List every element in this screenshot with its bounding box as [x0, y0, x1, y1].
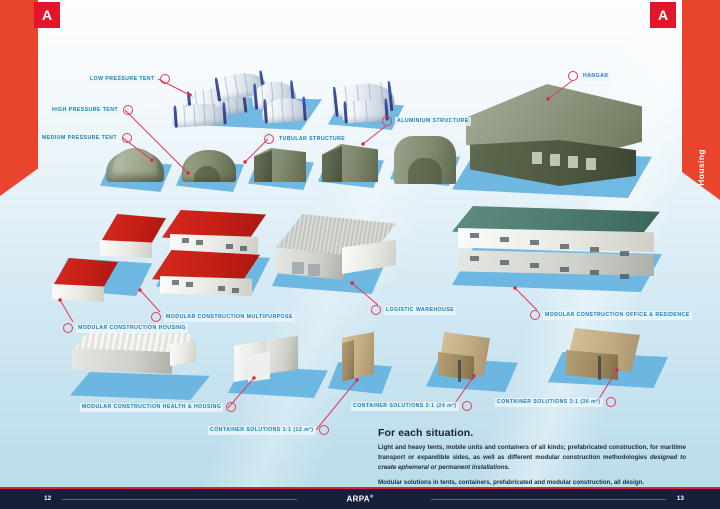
- callout-label: CONTAINER SOLUTIONS 2:1 (24 m²): [351, 402, 459, 411]
- callout-container-3-1[interactable]: CONTAINER SOLUTIONS 3:1 (36 m²): [495, 397, 619, 407]
- callout-low-pressure-tent[interactable]: LOW PRESSURE TENT: [88, 74, 173, 84]
- callout-label: CONTAINER SOLUTIONS 1:1 (12 m²): [208, 426, 316, 435]
- section-tab-housing[interactable]: Housing: [682, 0, 720, 200]
- callout-container-2-1[interactable]: CONTAINER SOLUTIONS 2:1 (24 m²): [351, 401, 475, 411]
- callout-medium-pressure-tent[interactable]: MEDIUM PRESSURE TENT: [40, 133, 135, 143]
- callout-marker-icon: [151, 312, 161, 322]
- callout-marker-icon: [319, 425, 329, 435]
- footer-rule-left: [62, 499, 297, 500]
- body-heading: For each situation.: [378, 427, 686, 439]
- hangar-window: [586, 158, 596, 170]
- callout-modular-health-housing[interactable]: MODULAR CONSTRUCTION HEALTH & HOUSING: [80, 402, 239, 412]
- callout-marker-icon: [226, 402, 236, 412]
- callout-label: HANGAR: [581, 72, 610, 81]
- callout-marker-icon: [606, 397, 616, 407]
- callout-label: ALUMINIUM STRUCTURE: [395, 117, 471, 126]
- callout-marker-icon: [63, 323, 73, 333]
- callout-tubular-structure[interactable]: TUBULAR STRUCTURE: [261, 134, 347, 144]
- hangar-window: [568, 156, 578, 168]
- callout-marker-icon: [123, 105, 133, 115]
- callout-label: TUBULAR STRUCTURE: [277, 135, 347, 144]
- body-paragraph-1: Light and heavy tents, mobile units and …: [378, 443, 686, 473]
- callout-container-1-1[interactable]: CONTAINER SOLUTIONS 1:1 (12 m²): [208, 425, 332, 435]
- callout-label: MODULAR CONSTRUCTION MULTIPURPOSE: [164, 313, 295, 322]
- callout-label: HIGH PRESSURE TENT: [50, 106, 120, 115]
- callout-marker-icon: [160, 74, 170, 84]
- brand-name: ARPA®: [347, 494, 374, 504]
- callout-marker-icon: [371, 305, 381, 315]
- callout-label: LOGISTIC WAREHOUSE: [384, 306, 456, 315]
- ground-pad: [70, 372, 210, 400]
- section-tab-label: Housing: [696, 149, 706, 186]
- callout-marker-icon: [122, 133, 132, 143]
- callout-marker-icon: [530, 310, 540, 320]
- callout-logistic-warehouse[interactable]: LOGISTIC WAREHOUSE: [368, 305, 456, 315]
- callout-high-pressure-tent[interactable]: HIGH PRESSURE TENT: [50, 105, 136, 115]
- page-footer: 12 ARPA® 13: [0, 487, 720, 509]
- callout-aluminium-structure[interactable]: ALUMINIUM STRUCTURE: [379, 116, 471, 126]
- callout-label: MEDIUM PRESSURE TENT: [40, 134, 119, 143]
- paragraph-1-text: Light and heavy tents, mobile units and …: [378, 444, 686, 461]
- callout-marker-icon: [264, 134, 274, 144]
- callout-marker-icon: [568, 71, 578, 81]
- brand-registered-mark: ®: [370, 494, 374, 499]
- callout-label: MODULAR CONSTRUCTION HOUSING: [76, 324, 188, 333]
- callout-marker-icon: [462, 401, 472, 411]
- page-number-left: 12: [44, 495, 51, 502]
- left-accent-tab: [0, 0, 38, 196]
- callout-modular-housing[interactable]: MODULAR CONSTRUCTION HOUSING: [60, 323, 188, 333]
- logo-left: A: [34, 2, 60, 28]
- body-text-block: For each situation. Light and heavy tent…: [378, 427, 686, 493]
- hangar-window: [532, 152, 542, 164]
- callout-marker-icon: [382, 116, 392, 126]
- callout-label: MODULAR CONSTRUCTION HEALTH & HOUSING: [80, 403, 223, 412]
- page-number-right: 13: [677, 495, 684, 502]
- callout-label: MODULAR CONSTRUCTION OFFICE & RESIDENCE: [543, 311, 692, 320]
- footer-rule-right: [431, 499, 666, 500]
- brand-text: ARPA: [347, 495, 370, 504]
- catalog-page-spread: Housing A A: [0, 0, 720, 509]
- callout-modular-office-residence[interactable]: MODULAR CONSTRUCTION OFFICE & RESIDENCE: [527, 310, 692, 320]
- callout-modular-multipurpose[interactable]: MODULAR CONSTRUCTION MULTIPURPOSE: [148, 312, 295, 322]
- logo-right: A: [650, 2, 676, 28]
- callout-label: LOW PRESSURE TENT: [88, 75, 157, 84]
- hangar-window: [550, 154, 560, 166]
- callout-label: CONTAINER SOLUTIONS 3:1 (36 m²): [495, 398, 603, 407]
- callout-hangar[interactable]: HANGAR: [565, 71, 610, 81]
